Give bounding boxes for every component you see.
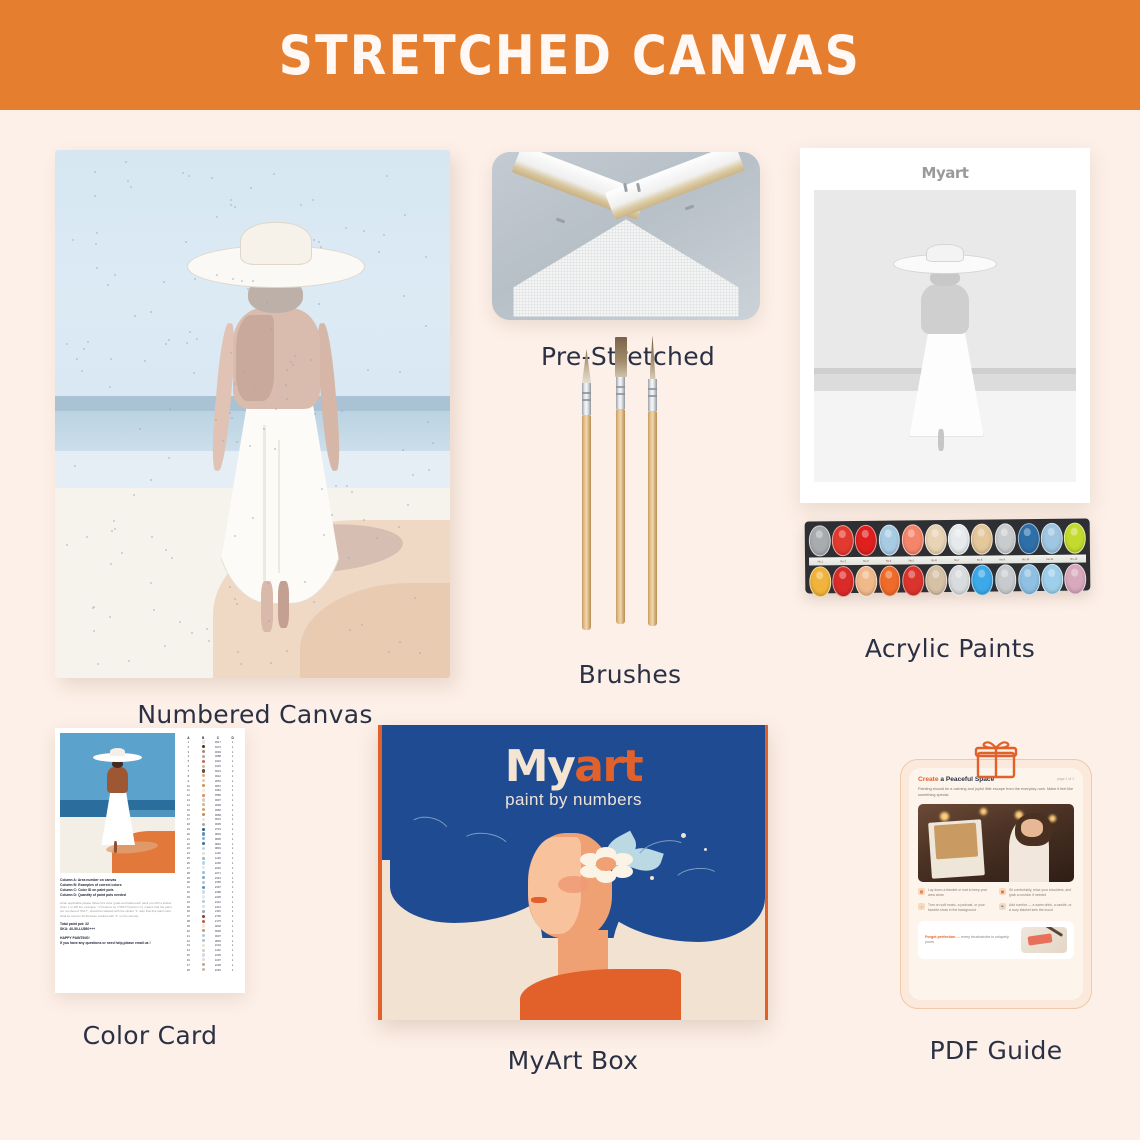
cell-c: 2200 [211, 862, 226, 865]
reference-sheet-logo: Myart [814, 164, 1076, 182]
cell-c: 0803 [211, 940, 226, 943]
cell-c: 0002 [211, 925, 226, 928]
cell-d: 1 [225, 920, 240, 923]
pdf-note-card: Forget perfection — every brushstroke is… [918, 921, 1074, 959]
cell-d: 1 [225, 741, 240, 744]
pdf-note-thumbnail [1021, 927, 1067, 953]
cell-b [196, 832, 211, 836]
paint-pot[interactable] [972, 565, 994, 596]
cell-a: 36 [181, 910, 196, 913]
cell-c: 0093 [211, 751, 226, 754]
paint-pot[interactable] [1018, 564, 1040, 595]
brush-tip-round-icon [582, 349, 591, 383]
cell-c: 2343 [211, 877, 226, 880]
cell-b [196, 876, 211, 880]
canvas-number-speck [274, 448, 276, 450]
paint-pot[interactable] [995, 564, 1017, 595]
product-numbered-canvas[interactable]: Numbered Canvas [55, 150, 455, 729]
cell-b [196, 813, 211, 817]
cell-b [196, 871, 211, 875]
staple-icon [556, 218, 565, 224]
bokeh-light [980, 808, 987, 815]
canvas-number-speck [97, 663, 99, 665]
paint-pot-code: No.10 [1022, 558, 1029, 561]
music-icon: ♪ [918, 903, 925, 910]
brush-ferrule [648, 379, 657, 411]
cell-c: 0068 [211, 814, 226, 817]
cell-b [196, 779, 211, 783]
canvas-number-speck [107, 284, 109, 286]
cell-d: 1 [225, 940, 240, 943]
cell-a: 9 [181, 780, 196, 783]
cell-a: 43 [181, 944, 196, 947]
logo-art: art [574, 741, 642, 792]
canvas-back-weave [513, 219, 738, 316]
cell-a: 15 [181, 809, 196, 812]
cell-a: 33 [181, 896, 196, 899]
paint-pot[interactable] [1017, 523, 1039, 554]
cell-b [196, 784, 211, 788]
ref-figure-torso [921, 284, 969, 334]
cell-c: 2205 [211, 954, 226, 957]
paint-pot-row-top [809, 523, 1086, 557]
cell-b [196, 847, 211, 851]
cell-b [196, 949, 211, 953]
canvas-number-speck [114, 528, 116, 530]
staple-icon [685, 204, 694, 210]
paint-pot[interactable] [1064, 523, 1086, 554]
cell-b [196, 808, 211, 812]
cell-c: 0066 [211, 809, 226, 812]
paint-pot[interactable] [971, 524, 993, 555]
paint-pot[interactable] [1041, 564, 1063, 595]
cell-b [196, 920, 211, 924]
canvas-number-speck [335, 485, 337, 487]
cell-c: 0805 [211, 838, 226, 841]
cell-b [196, 958, 211, 962]
cell-c: 2397 [211, 886, 226, 889]
paint-pot[interactable] [948, 565, 970, 596]
cell-b [196, 905, 211, 909]
canvas-number-speck [96, 267, 98, 269]
cell-d: 1 [225, 799, 240, 802]
paint-pot[interactable] [878, 524, 900, 555]
canvas-number-speck [134, 315, 136, 317]
bokeh-light [940, 812, 949, 821]
cell-d: 1 [225, 809, 240, 812]
product-color-card[interactable]: Column A: Area number on canvas Column B… [55, 728, 255, 1050]
label-pdf-guide: PDF Guide [900, 1036, 1092, 1065]
cell-d: 1 [225, 969, 240, 972]
paint-pot-code: No.3 [863, 559, 869, 562]
paint-pot-row-bottom [809, 564, 1086, 598]
cell-a: 27 [181, 867, 196, 870]
cell-b [196, 866, 211, 870]
cell-a: 29 [181, 877, 196, 880]
pdf-tip-text: Add comfort — a warm drink, a candle, or… [1009, 903, 1074, 913]
cell-a: 40 [181, 930, 196, 933]
canvas-number-speck [186, 342, 188, 344]
pre-stretched-photo [492, 152, 760, 320]
canvas-number-speck [318, 241, 320, 243]
pdf-guide-page: page 1 of 1 Create a Peaceful Space Pain… [909, 768, 1083, 1000]
cell-d: 1 [225, 814, 240, 817]
cell-b [196, 910, 211, 914]
pdf-tips-column-left: ▦ Lay down a blanket or mat to keep your… [918, 888, 993, 918]
cell-d: 1 [225, 818, 240, 821]
brush-ferrule [616, 377, 625, 409]
cell-a: 30 [181, 881, 196, 884]
product-grid: Numbered Canvas Pre-Stretched Myart [0, 110, 1140, 1140]
cell-c: 0099 [211, 804, 226, 807]
paint-pot[interactable] [925, 565, 947, 596]
cell-a: 5 [181, 760, 196, 763]
cell-a: 12 [181, 794, 196, 797]
mat-icon: ▦ [918, 888, 925, 895]
cell-c: 0723 [211, 828, 226, 831]
color-card-sheet: Column A: Area number on canvas Column B… [55, 728, 245, 993]
canvas-number-speck [252, 517, 254, 519]
cell-b [196, 760, 211, 764]
cell-c: 2398 [211, 891, 226, 894]
brush-handle [616, 409, 625, 624]
canvas-number-speck [109, 616, 111, 618]
page-title: STRETCHED CANVAS [279, 24, 861, 87]
cell-a: 18 [181, 823, 196, 826]
cell-b [196, 842, 211, 846]
paint-pot-code: No.7 [954, 558, 960, 561]
paint-pot[interactable] [809, 566, 831, 597]
cell-b [196, 915, 211, 919]
paint-pot[interactable] [902, 565, 924, 596]
cell-d: 1 [225, 901, 240, 904]
color-table-body: 1061712027313009314008815043416041517002… [178, 740, 240, 973]
label-brushes: Brushes [560, 660, 700, 689]
pdf-guide-tablet: page 1 of 1 Create a Peaceful Space Pain… [900, 759, 1092, 1009]
cell-d: 1 [225, 949, 240, 952]
cell-d: 1 [225, 959, 240, 962]
cell-c: 2240 [211, 867, 226, 870]
canvas-number-speck [247, 288, 249, 290]
cell-b [196, 963, 211, 967]
cell-a: 13 [181, 799, 196, 802]
figure-dress-fold-2 [278, 440, 280, 573]
cell-d: 1 [225, 872, 240, 875]
logo-my: My [505, 741, 574, 792]
cup-icon: ☕ [999, 903, 1006, 910]
canvas-number-speck [113, 520, 115, 522]
ref-figure [919, 254, 971, 453]
canvas-number-speck [318, 303, 320, 305]
paint-pot[interactable] [855, 525, 877, 556]
decor-dot [681, 833, 686, 838]
cell-c: 0042 [211, 775, 226, 778]
cell-c: 1100 [211, 852, 226, 855]
cell-b [196, 803, 211, 807]
pdf-tips-column-right: ▣ Sit comfortably, relax your shoulders,… [999, 888, 1074, 918]
cell-a: 7 [181, 770, 196, 773]
pdf-tip-text: Sit comfortably, relax your shoulders, a… [1009, 888, 1074, 898]
painting-in-progress [934, 823, 978, 860]
cc-figure-torso [107, 767, 129, 793]
paint-pot-code: No.4 [886, 559, 892, 562]
cell-a: 2 [181, 746, 196, 749]
paint-pot[interactable] [832, 566, 854, 597]
paint-pot[interactable] [879, 565, 901, 596]
canvas-number-speck [81, 370, 83, 372]
legend-sku: SKU: 40-50-LU580+++ [60, 927, 175, 932]
canvas-number-speck [244, 371, 246, 373]
cell-b [196, 837, 211, 841]
paint-pot[interactable] [948, 524, 970, 555]
product-myart-box[interactable]: Myart paint by numbers [378, 725, 773, 1075]
pdf-tips-grid: ▦ Lay down a blanket or mat to keep your… [918, 888, 1074, 918]
cell-c: 0057 [211, 785, 226, 788]
gift-icon [974, 739, 1018, 784]
cell-d: 1 [225, 896, 240, 899]
cell-c: 0849 [211, 847, 226, 850]
cell-a: 11 [181, 789, 196, 792]
cell-c: 2414 [211, 906, 226, 909]
canvas-number-speck [66, 343, 68, 345]
cell-a: 38 [181, 920, 196, 923]
canvas-number-speck [66, 544, 68, 546]
cell-a: 41 [181, 935, 196, 938]
canvas-number-speck [128, 660, 130, 662]
cell-b [196, 823, 211, 827]
cell-b [196, 890, 211, 894]
canvas-number-speck [348, 557, 350, 559]
cell-d: 1 [225, 794, 240, 797]
cell-d: 1 [225, 954, 240, 957]
col-header-a: A [181, 736, 196, 740]
canvas-number-speck [216, 216, 218, 218]
cell-d: 1 [225, 780, 240, 783]
canvas-number-speck [179, 621, 181, 623]
canvas-number-speck [133, 494, 135, 496]
cell-a: 34 [181, 901, 196, 904]
cell-b [196, 857, 211, 861]
cell-a: 19 [181, 828, 196, 831]
canvas-number-speck [74, 465, 76, 467]
canvas-number-speck [211, 177, 213, 179]
cell-b [196, 750, 211, 754]
paint-pot-code: No.5 [909, 559, 915, 562]
brush-tip-liner-icon [650, 335, 656, 379]
canvas-number-speck [150, 479, 152, 481]
cell-d: 1 [225, 891, 240, 894]
paint-pot[interactable] [1064, 564, 1086, 595]
cell-c: 2271 [211, 872, 226, 875]
cell-b [196, 934, 211, 938]
label-acrylic-paints: Acrylic Paints [805, 634, 1095, 663]
color-card-legend: Column A: Area number on canvas Column B… [60, 878, 175, 946]
page-header: STRETCHED CANVAS [0, 0, 1140, 110]
cell-c: 2730 [211, 915, 226, 918]
legend-contact: If you have any questions or need help,p… [60, 941, 175, 946]
paint-pot[interactable] [832, 525, 854, 556]
canvas-number-speck [127, 180, 129, 182]
canvas-figure [229, 245, 324, 636]
myart-box-logo: Myart paint by numbers [382, 741, 765, 810]
paint-tray: No.1No.2No.3No.4No.5No.6No.7No.8No.9No.1… [805, 519, 1091, 594]
canvas-number-speck [304, 581, 306, 583]
cell-c: 0840 [211, 843, 226, 846]
canvas-number-speck [273, 173, 275, 175]
product-pdf-guide[interactable]: page 1 of 1 Create a Peaceful Space Pain… [900, 745, 1095, 1065]
chair-icon: ▣ [999, 888, 1006, 895]
cell-d: 1 [225, 775, 240, 778]
canvas-number-speck [230, 199, 232, 201]
cell-c: 0048 [211, 930, 226, 933]
cell-a: 1 [181, 741, 196, 744]
canvas-number-speck [208, 640, 210, 642]
paint-pot-code: No.2 [840, 560, 846, 563]
cell-d: 1 [225, 751, 240, 754]
cell-d: 1 [225, 760, 240, 763]
cell-d: 1 [225, 930, 240, 933]
cell-b [196, 924, 211, 928]
cell-c: 0273 [211, 746, 226, 749]
canvas-number-speck [252, 280, 254, 282]
paint-pot[interactable] [1041, 523, 1063, 554]
product-pre-stretched[interactable]: Pre-Stretched [492, 152, 764, 371]
figure-leg-left [261, 581, 273, 632]
cell-a: 28 [181, 872, 196, 875]
ref-figure-hat-crown [926, 244, 964, 262]
cell-b [196, 755, 211, 759]
person-face [1021, 819, 1043, 836]
paint-pot[interactable] [901, 524, 923, 555]
cell-b [196, 769, 211, 773]
canvas-number-speck [349, 629, 351, 631]
paint-pot[interactable] [856, 566, 878, 597]
cell-b [196, 953, 211, 957]
label-myart-box: MyArt Box [378, 1046, 768, 1075]
brush-ferrule [582, 383, 591, 415]
canvas-number-speck [268, 620, 270, 622]
cell-c: 0605 [211, 823, 226, 826]
cell-b [196, 794, 211, 798]
cell-d: 1 [225, 944, 240, 947]
bokeh-light [1049, 815, 1056, 822]
cell-d: 1 [225, 852, 240, 855]
pdf-tip: ♪ Turn on soft music, a podcast, or your… [918, 903, 993, 913]
cell-c: 0415 [211, 765, 226, 768]
ref-figure-leg [938, 429, 944, 451]
cell-c: 2245 [211, 969, 226, 972]
cell-c: 0615 [211, 818, 226, 821]
cell-d: 1 [225, 964, 240, 967]
cell-b [196, 745, 211, 749]
cell-d: 1 [225, 838, 240, 841]
figure-dress-fold [263, 425, 266, 581]
cell-c: 1149 [211, 857, 226, 860]
cell-c: 2228 [211, 964, 226, 967]
product-acrylic-paints[interactable]: No.1No.2No.3No.4No.5No.6No.7No.8No.9No.1… [805, 520, 1095, 663]
pdf-guide-image: page 1 of 1 Create a Peaceful Space Pain… [900, 745, 1092, 1010]
cell-a: 6 [181, 765, 196, 768]
cell-a: 20 [181, 833, 196, 836]
canvas-number-speck [163, 281, 165, 283]
cell-a: 26 [181, 862, 196, 865]
pdf-page-number: page 1 of 1 [1057, 777, 1074, 781]
canvas-number-speck [263, 428, 265, 430]
canvas-number-speck [230, 352, 232, 354]
cell-c: 0481 [211, 789, 226, 792]
canvas-number-speck [402, 449, 404, 451]
reference-sheet-artwork [814, 190, 1076, 482]
mb-lip [531, 897, 546, 903]
cell-b [196, 939, 211, 943]
pdf-tip: ▣ Sit comfortably, relax your shoulders,… [999, 888, 1074, 898]
product-brushes[interactable]: Brushes [560, 340, 700, 689]
paint-pot[interactable] [809, 525, 831, 556]
cell-c: 2435 [211, 896, 226, 899]
cell-b [196, 886, 211, 890]
cell-d: 1 [225, 804, 240, 807]
cell-a: 17 [181, 818, 196, 821]
canvas-number-speck [267, 582, 269, 584]
decor-dot [650, 876, 654, 880]
paint-pot-code: No.8 [977, 558, 983, 561]
paint-pot-code: No.9 [1000, 558, 1006, 561]
canvas-number-speck [286, 650, 288, 652]
canvas-number-speck [151, 536, 153, 538]
cell-d: 1 [225, 862, 240, 865]
canvas-number-speck [194, 278, 196, 280]
brush-handle [582, 415, 591, 630]
cell-d: 2 [225, 770, 240, 773]
cc-figure [106, 753, 129, 854]
cell-a: 48 [181, 969, 196, 972]
myart-tagline: paint by numbers [382, 790, 765, 810]
cell-a: 42 [181, 940, 196, 943]
canvas-number-speck [320, 246, 322, 248]
paint-pot[interactable] [994, 523, 1016, 554]
canvas-number-speck [169, 408, 171, 410]
cell-c: 0617 [211, 741, 226, 744]
cell-a: 45 [181, 954, 196, 957]
canvas-number-speck [111, 530, 113, 532]
cell-c: 0024 [211, 770, 226, 773]
cell-c: 0097 [211, 799, 226, 802]
canvas-number-speck [109, 386, 111, 388]
myart-logo-text: Myart [382, 741, 765, 792]
pdf-note-accent: Forget perfection [925, 935, 955, 939]
cell-b [196, 944, 211, 948]
canvas-number-speck [407, 504, 409, 506]
canvas-number-speck [363, 230, 365, 232]
paint-pot[interactable] [925, 524, 947, 555]
cell-a: 24 [181, 852, 196, 855]
pdf-photo [918, 804, 1074, 882]
cell-d: 1 [225, 823, 240, 826]
canvas-number-speck [236, 603, 238, 605]
cell-d: 1 [225, 828, 240, 831]
numbered-canvas-image [55, 150, 450, 678]
paint-pot-code: No.11 [1046, 557, 1053, 560]
cell-d: 3 [225, 881, 240, 884]
product-reference-sheet[interactable]: Myart Reference Sheet [800, 148, 1095, 558]
cell-d: 1 [225, 765, 240, 768]
cell-a: 21 [181, 838, 196, 841]
label-color-card: Color Card [55, 1021, 245, 1050]
cell-d: 1 [225, 755, 240, 758]
cell-a: 39 [181, 925, 196, 928]
canvas-number-speck [378, 251, 380, 253]
cell-d: 1 [225, 906, 240, 909]
